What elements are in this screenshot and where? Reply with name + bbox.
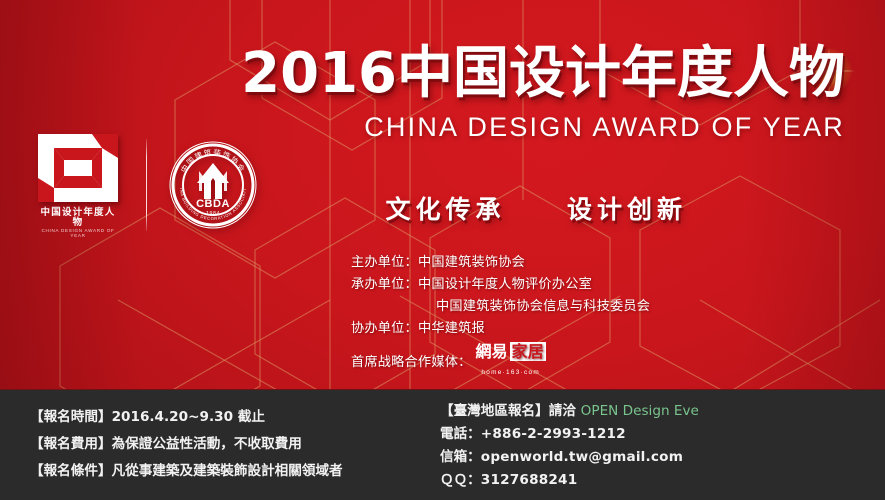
registration-value: 為保證公益性活動，不收取費用 — [112, 436, 302, 452]
contact-value-phone: +886-2-2993-1212 — [481, 426, 626, 442]
organizer-row: 中国建筑装饰协会信息与科技委员会 — [351, 296, 650, 318]
contact-value-organization: OPEN Design Eve — [581, 403, 699, 419]
svg-text:CBDA: CBDA — [196, 198, 230, 210]
contact-label: 【臺灣地區報名】請洽 — [440, 403, 581, 419]
registration-value: 2016.4.20~9.30 截止 — [112, 409, 265, 425]
registration-row: 【報名條件】凡從事建築及建築裝飾設計相關領域者 — [30, 458, 343, 485]
media-partner-row: 首席战略合作媒体： 網易 家居 home·163·com — [351, 342, 650, 384]
netease-home-logo: 網易 家居 home·163·com — [476, 342, 546, 384]
contact-row-qq: ＱＱ：3127688241 — [440, 469, 699, 492]
page-title: 2016中国设计年度人物 — [205, 44, 845, 103]
contact-label: ＱＱ： — [440, 472, 481, 488]
cday-caption: 中国设计年度人物 CHINA DESIGN AWARD OF YEAR — [36, 208, 120, 238]
organizer-label: 承办单位： — [351, 274, 418, 296]
registration-label: 【報名條件】 — [30, 463, 112, 479]
organizer-row: 主办单位： 中国建筑装饰协会 — [351, 252, 650, 274]
organizer-row: 协办单位： 中华建筑报 — [351, 318, 650, 340]
netease-logo-text-1: 網易 — [476, 342, 508, 361]
netease-logo-top: 網易 家居 — [476, 342, 546, 361]
title-block: 2016中国设计年度人物 CHINA DESIGN AWARD OF YEAR — [205, 44, 845, 143]
netease-logo-text-2: 家居 — [510, 342, 546, 361]
slogan-left: 文化传承 — [386, 195, 506, 224]
media-partner-label: 首席战略合作媒体： — [351, 352, 472, 374]
page-subtitle: CHINA DESIGN AWARD OF YEAR — [205, 113, 845, 143]
cday-mark-icon — [36, 132, 120, 204]
slogan-right: 设计创新 — [567, 195, 687, 224]
cday-caption-cn: 中国设计年度人物 — [36, 208, 120, 227]
registration-label: 【報名費用】 — [30, 436, 112, 452]
organizer-value: 中华建筑报 — [418, 318, 485, 340]
cbda-emblem-icon: CBDA · 1984 · 中国建筑装饰协会 CHINA BUILDING DE… — [169, 141, 257, 229]
poster-root: 中国设计年度人物 CHINA DESIGN AWARD OF YEAR CBDA… — [0, 0, 885, 500]
cday-caption-en: CHINA DESIGN AWARD OF YEAR — [36, 229, 120, 238]
registration-value: 凡從事建築及建築裝飾設計相關領域者 — [112, 463, 343, 479]
contact-row-phone: 電話：+886-2-2993-1212 — [440, 423, 699, 446]
contact-label: 信箱： — [440, 449, 481, 465]
slogan: 文化传承 设计创新 — [386, 190, 687, 226]
organizer-label: 协办单位： — [351, 318, 418, 340]
registration-row: 【報名費用】為保證公益性活動，不收取費用 — [30, 431, 343, 458]
registration-row: 【報名時間】2016.4.20~9.30 截止 — [30, 404, 343, 431]
registration-label: 【報名時間】 — [30, 409, 112, 425]
organizer-value: 中国建筑装饰协会 — [418, 252, 525, 274]
logo-divider — [146, 139, 147, 231]
organizer-value: 中国设计年度人物评价办公室 — [418, 274, 592, 296]
contact-details-block: 【臺灣地區報名】請洽 OPEN Design Eve 電話：+886-2-299… — [440, 400, 699, 492]
contact-value-qq: 3127688241 — [481, 472, 578, 488]
contact-value-email: openworld.tw@gmail.com — [481, 449, 683, 465]
red-background-stage: 中国设计年度人物 CHINA DESIGN AWARD OF YEAR CBDA… — [0, 0, 885, 389]
organizer-value: 中国建筑装饰协会信息与科技委员会 — [436, 296, 650, 318]
registration-details-block: 【報名時間】2016.4.20~9.30 截止 【報名費用】為保證公益性活動，不… — [30, 404, 343, 485]
contact-row-email: 信箱：openworld.tw@gmail.com — [440, 446, 699, 469]
contact-row-taiwan: 【臺灣地區報名】請洽 OPEN Design Eve — [440, 400, 699, 423]
organizer-info-block: 主办单位： 中国建筑装饰协会 承办单位： 中国设计年度人物评价办公室 中国建筑装… — [351, 252, 650, 384]
contact-label: 電話： — [440, 426, 481, 442]
china-design-award-logo: 中国设计年度人物 CHINA DESIGN AWARD OF YEAR — [36, 132, 120, 238]
organizer-label: 主办单位： — [351, 252, 418, 274]
netease-logo-url: home·163·com — [481, 362, 540, 384]
organizer-row: 承办单位： 中国设计年度人物评价办公室 — [351, 274, 650, 296]
footer-bar: 【報名時間】2016.4.20~9.30 截止 【報名費用】為保證公益性活動，不… — [0, 389, 885, 500]
logo-row: 中国设计年度人物 CHINA DESIGN AWARD OF YEAR CBDA… — [36, 132, 257, 238]
